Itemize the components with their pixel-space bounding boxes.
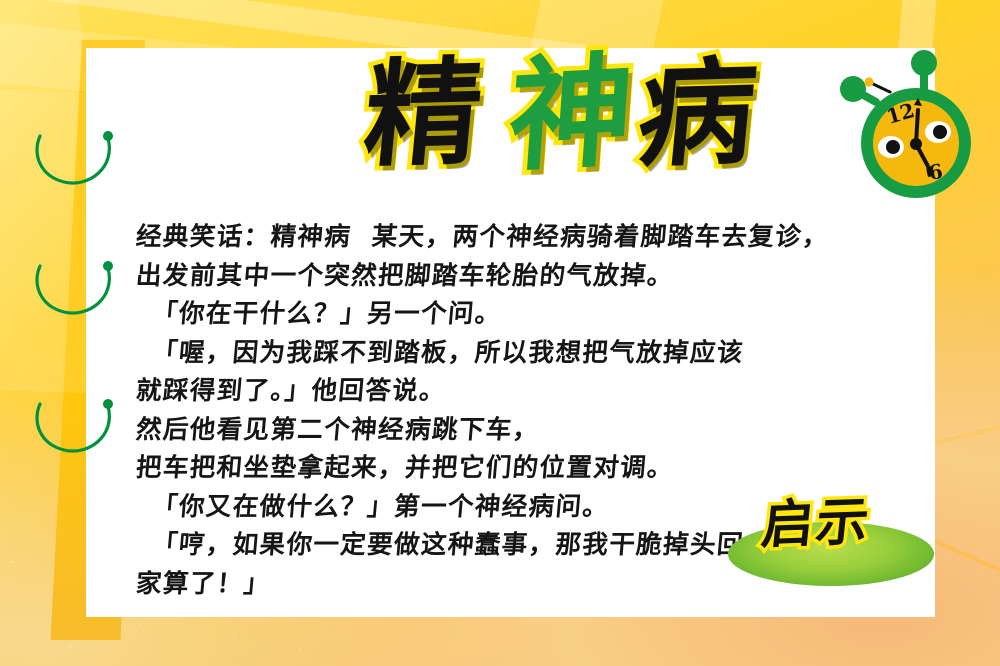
green-spiral-hook-icon [26,254,122,324]
body-line: 出发前其中一个突然把脚踏车轮胎的气放掉。 [134,257,927,296]
green-spiral-hook-icon [26,392,122,462]
green-spiral-hook-icon [26,124,122,194]
body-line: 就踩得到了。」他回答说。 [134,372,927,411]
body-line: 经典笑话：精神病 某天，两个神经病骑着脚踏车去复诊， [134,218,927,257]
body-line: 把车把和坐垫拿起来，并把它们的位置对调。 [134,449,927,488]
stamp-badge: 启示 [728,498,943,598]
clock-bug-icon: 12 6 [838,48,988,208]
body-line: 「喔，因为我踩不到踏板，所以我想把气放掉应该 [134,334,927,373]
stamp-label: 启示 [759,496,873,552]
body-line: 然后他看见第二个神经病跳下车， [134,411,927,450]
body-line: 「你在干什么？」另一个问。 [134,295,927,334]
poster-canvas: 精 神 病 经典笑话：精神病 某天，两个神经病骑着脚踏车去复诊， 出发前其中一个… [0,0,1000,666]
